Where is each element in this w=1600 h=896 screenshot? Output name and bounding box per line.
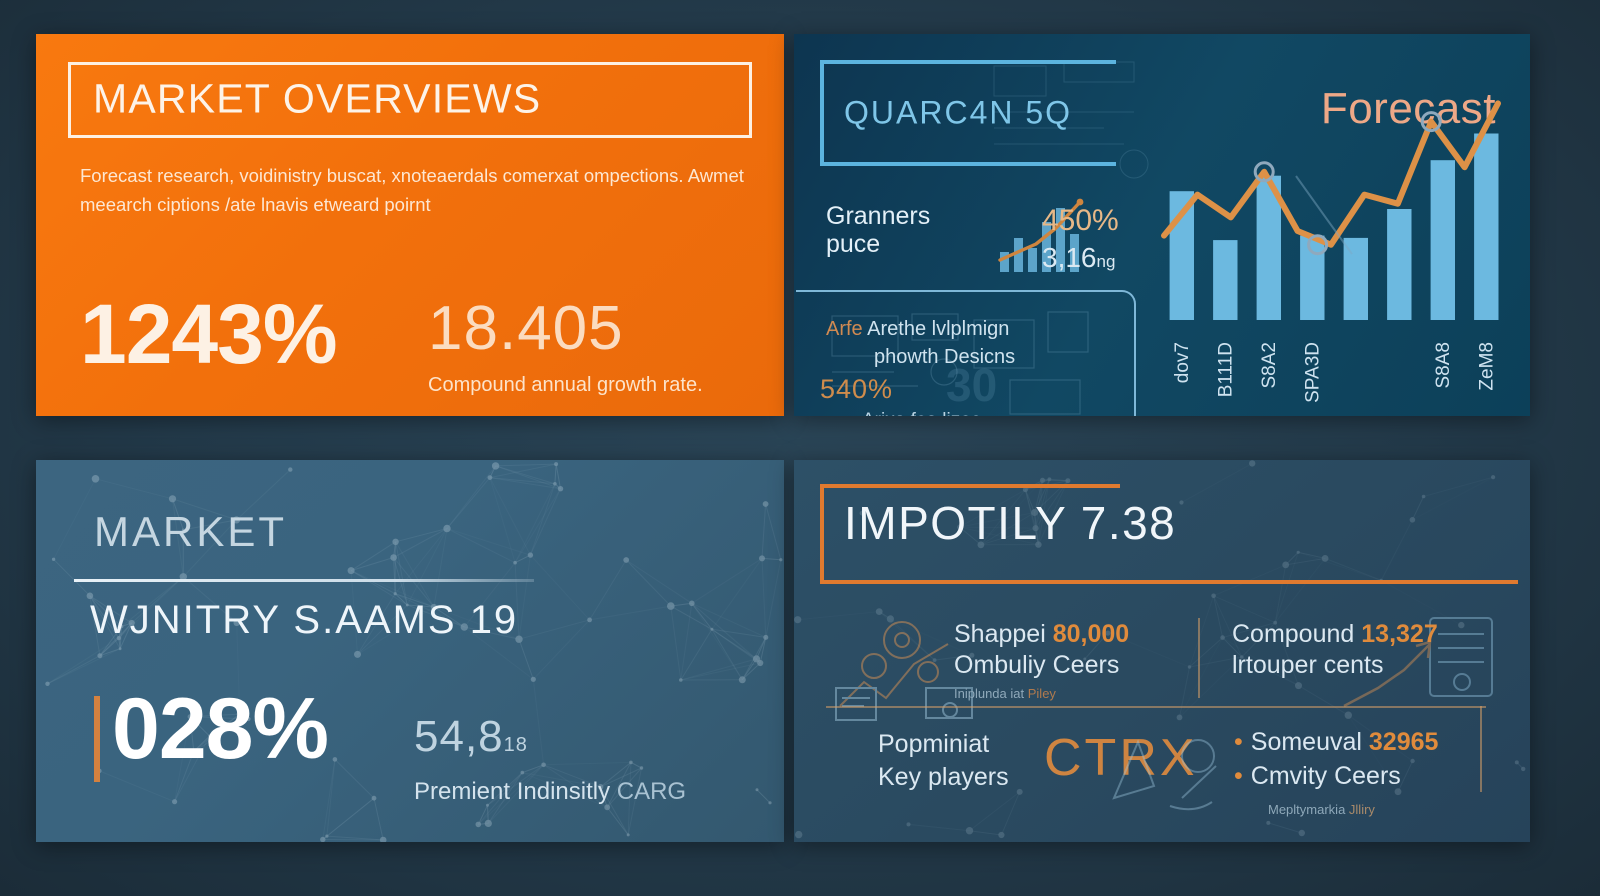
network-link: [760, 637, 766, 663]
impact-cell-2-line1: Compound 13,327: [1232, 620, 1438, 649]
market-subtitle: WJNITRY S.AAMS 19: [90, 598, 518, 643]
impact-bullet-1-value: 32965: [1369, 728, 1439, 756]
network-node: [325, 835, 328, 838]
network-node: [998, 832, 1004, 838]
market-caption: Premient Indinsitly CARG: [414, 778, 686, 806]
sub-card-line1-rest: Arethe lvlplmign: [867, 318, 1009, 340]
network-node: [97, 653, 102, 658]
network-node: [795, 831, 802, 838]
network-link: [351, 542, 396, 571]
network-link: [335, 759, 374, 798]
network-link: [762, 504, 766, 558]
network-link: [607, 807, 628, 835]
network-link: [48, 649, 121, 684]
impact-key-players-line2: Key players: [878, 763, 1009, 791]
network-link: [396, 529, 447, 542]
impact-cell-2: Compound 13,327 lrtouper cents: [1232, 620, 1438, 680]
impact-frame-left: [820, 484, 824, 584]
network-link: [533, 679, 543, 765]
forecast-panel-title: QUARC4N 5Q: [844, 95, 1072, 132]
network-node: [1299, 830, 1305, 836]
market-caption-dim: CARG: [617, 778, 686, 805]
panel-market-overview: MARKET OVERVIEWS Forecast research, void…: [36, 34, 784, 416]
network-node: [1322, 555, 1329, 562]
abstract-logo-icon: [1094, 722, 1244, 822]
market-accent-bar: [94, 696, 100, 782]
forecast-kpi-label-line1: Granners: [826, 202, 930, 230]
network-link: [766, 504, 781, 560]
bullet-dot-icon: •: [1234, 728, 1243, 756]
impact-cell-1-foot-text: Iniplunda iat: [954, 686, 1024, 701]
sub-card-line1: Arfe Arethe lvlplmign: [826, 318, 1009, 341]
network-link: [1298, 552, 1381, 580]
network-node: [394, 592, 397, 595]
network-link: [519, 620, 590, 639]
network-node: [485, 820, 492, 827]
impact-cell-1-text: Shappei: [954, 620, 1046, 648]
impact-cell-2-text: Compound: [1232, 620, 1354, 648]
network-link: [351, 571, 395, 594]
forecast-chart-svg: dov7B111DS8A2SPA3DS8A8ZeM8: [1146, 58, 1520, 414]
impact-cell-1-foot-highlight: Piley: [1028, 686, 1056, 701]
network-node: [541, 763, 546, 768]
network-link: [515, 489, 560, 563]
overview-body-text: Forecast research, voidinistry buscat, x…: [80, 162, 770, 219]
forecast-kpi-value-secondary-unit: ng: [1097, 252, 1116, 271]
overview-title-frame: MARKET OVERVIEWS: [68, 62, 752, 138]
panel-impact-stats: IMPOTILY 7.38: [794, 460, 1530, 842]
network-link: [970, 831, 1002, 835]
network-link: [742, 663, 760, 680]
network-link: [395, 529, 447, 594]
network-node: [763, 501, 769, 507]
network-link: [447, 529, 530, 556]
network-link: [1412, 477, 1493, 520]
impact-bullets-foot-text: Mepltymarkia: [1268, 802, 1345, 817]
network-node: [169, 495, 176, 502]
network-link: [1381, 520, 1412, 581]
network-link: [544, 762, 631, 764]
chart-tick-label: dov7: [1172, 342, 1193, 383]
impact-cell-1-footnote: Iniplunda iat Piley: [954, 686, 1129, 701]
forecast-kpi-value-secondary-number: 3,16: [1042, 242, 1097, 273]
impact-cell-1-value: 80,000: [1053, 620, 1129, 648]
forecast-bar-chart: dov7B111DS8A2SPA3DS8A8ZeM8: [1146, 58, 1520, 414]
sub-card-line1-highlight: Arfe: [826, 318, 863, 340]
impact-frame-top: [820, 484, 1120, 488]
network-node: [667, 602, 675, 610]
network-node: [1491, 475, 1495, 479]
network-link: [590, 606, 671, 620]
network-link: [712, 558, 762, 629]
network-link: [96, 479, 173, 499]
market-secondary-sub: 18: [504, 734, 528, 756]
network-node: [1422, 495, 1426, 499]
forecast-kpi-label: Granners puce: [826, 202, 930, 258]
impact-cell-1: Shappei 80,000 Ombuliy Ceers Iniplunda i…: [954, 620, 1129, 701]
network-node: [172, 799, 177, 804]
impact-horizontal-rule: [826, 706, 1486, 708]
overview-secondary-caption: Compound annual growth rate.: [428, 374, 703, 397]
chart-tick-label: B111D: [1215, 342, 1236, 397]
network-node: [1048, 477, 1052, 481]
network-link: [1268, 823, 1302, 833]
network-node: [392, 539, 398, 545]
overview-secondary-value: 18.405: [428, 298, 624, 360]
forecast-kpi-label-line2: puce: [826, 230, 880, 258]
network-link: [1424, 477, 1494, 496]
network-node: [1295, 682, 1302, 689]
network-node: [794, 616, 801, 623]
network-node: [779, 558, 782, 561]
impact-frame-bottom: [820, 580, 1518, 584]
impact-bullets-foot-highlight: Jlliry: [1349, 802, 1375, 817]
network-node: [443, 525, 450, 532]
impact-cell-2-value: 13,327: [1361, 620, 1437, 648]
sub-card-line3: Arixa fea lizoe: [862, 410, 981, 416]
network-link: [671, 606, 681, 680]
network-node: [623, 557, 629, 563]
network-node: [528, 552, 533, 557]
overview-title: MARKET OVERVIEWS: [93, 76, 541, 123]
network-node: [907, 822, 911, 826]
impact-bullet-2-text: Cmvity Ceers: [1251, 762, 1401, 790]
network-node: [640, 766, 643, 769]
chart-tick-label: SPA3D: [1302, 342, 1323, 403]
network-node: [753, 655, 760, 662]
impact-title: IMPOTILY 7.38: [844, 496, 1176, 550]
chart-bar: [1213, 240, 1237, 320]
network-link: [374, 798, 383, 840]
network-link: [970, 792, 1020, 831]
impact-cell-2-line2: lrtouper cents: [1232, 651, 1438, 680]
network-link: [555, 464, 556, 484]
network-node: [558, 486, 563, 491]
network-node: [288, 467, 292, 471]
network-node: [966, 827, 973, 834]
forecast-sub-card: 30 Arfe Arethe lvlplmign phowth Desicns …: [796, 290, 1136, 416]
network-node: [513, 561, 517, 565]
chart-bar: [1344, 238, 1368, 320]
network-node: [380, 837, 387, 842]
network-link: [54, 479, 96, 560]
network-node: [689, 601, 695, 607]
network-link: [909, 824, 970, 830]
network-node: [1297, 551, 1300, 554]
network-node: [1065, 478, 1070, 483]
impact-key-players-line1: Popminiat: [878, 730, 989, 758]
network-link: [590, 560, 627, 620]
network-link: [766, 560, 781, 638]
market-divider-rule: [74, 579, 534, 582]
forecast-kpi-block: Granners puce 450% 3,16ng: [826, 202, 1156, 280]
chart-bar: [1387, 209, 1411, 320]
chart-bar: [1300, 236, 1324, 320]
impact-cell-1-line2: Ombuliy Ceers: [954, 651, 1129, 680]
network-node: [348, 567, 355, 574]
network-node: [1249, 460, 1255, 466]
network-link: [519, 555, 530, 639]
network-node: [1266, 821, 1270, 825]
forecast-kpi-value-secondary: 3,16ng: [1042, 242, 1115, 274]
network-link: [626, 560, 692, 603]
network-node: [587, 618, 592, 623]
network-node: [679, 678, 683, 682]
chart-tick-label: S8A2: [1259, 342, 1280, 388]
network-link: [447, 529, 515, 563]
network-node: [492, 462, 499, 469]
network-node: [531, 677, 536, 682]
infographic-canvas: MARKET OVERVIEWS Forecast research, void…: [0, 0, 1600, 896]
network-link: [327, 759, 335, 836]
network-node: [554, 462, 558, 466]
network-node: [1177, 715, 1183, 721]
impact-bullet-2: •Cmvity Ceers: [1234, 760, 1438, 794]
network-link: [447, 478, 490, 529]
impact-cell-divider: [1198, 618, 1200, 698]
network-node: [710, 628, 713, 631]
network-link: [530, 489, 560, 555]
network-node: [1211, 594, 1216, 599]
network-node: [629, 761, 633, 765]
chart-bars: [1170, 134, 1499, 321]
network-link: [533, 620, 589, 679]
network-link: [490, 478, 531, 555]
network-link: [490, 478, 515, 563]
network-node: [768, 801, 771, 804]
impact-corner-rule: [1480, 706, 1482, 792]
network-link: [54, 559, 90, 596]
network-link: [1275, 558, 1325, 622]
chart-bar: [1474, 134, 1498, 321]
network-node: [1040, 478, 1045, 483]
forecast-kpi-value-primary: 450%: [1042, 204, 1119, 238]
network-node: [372, 796, 377, 801]
network-node: [52, 558, 55, 561]
network-link: [762, 558, 766, 637]
forecast-title-frame: QUARC4N 5Q: [820, 60, 1116, 166]
network-node: [1017, 789, 1023, 795]
impact-bullet-list: •Someuval 32965 •Cmvity Ceers Mepltymark…: [1234, 726, 1438, 817]
panel-market-industry: MARKET WJNITRY S.AAMS 19 028% 54,818 Pre…: [36, 460, 784, 842]
network-link: [1182, 463, 1253, 502]
network-node: [1282, 562, 1289, 569]
network-node: [354, 651, 361, 658]
network-link: [1214, 596, 1276, 623]
network-link: [692, 558, 762, 603]
impact-bullets-footnote: Mepltymarkia Jlliry: [1268, 802, 1438, 817]
network-node: [1220, 635, 1225, 640]
network-node: [333, 757, 338, 762]
sub-card-big-value: 540%: [820, 374, 893, 405]
network-node: [119, 647, 122, 650]
network-node: [763, 635, 768, 640]
network-node: [488, 475, 493, 480]
network-link: [757, 790, 770, 803]
market-secondary-number: 54,8: [414, 712, 504, 761]
network-node: [476, 822, 482, 828]
sub-card-line2: phowth Desicns: [874, 346, 1015, 369]
chart-tick-label: ZeM8: [1476, 342, 1497, 391]
network-node: [1179, 500, 1183, 504]
network-node: [756, 788, 759, 791]
network-link: [515, 484, 555, 563]
network-node: [1188, 665, 1191, 668]
market-primary-value: 028%: [112, 686, 328, 772]
overview-primary-value: 1243%: [80, 292, 337, 376]
network-node: [521, 771, 525, 775]
panel-quarterly-forecast: QUARC4N 5Q Forecast Granners puce: [794, 34, 1530, 416]
network-link: [351, 558, 394, 571]
network-node: [627, 833, 630, 836]
chart-bar: [1431, 160, 1455, 320]
network-node: [739, 676, 746, 683]
network-link: [1214, 596, 1223, 638]
impact-key-players-label: Popminiat Key players: [878, 728, 1009, 794]
chart-markers: [1255, 113, 1440, 254]
network-node: [390, 554, 397, 561]
impact-bullet-1: •Someuval 32965: [1234, 726, 1438, 760]
market-secondary-value: 54,818: [414, 712, 528, 762]
network-link: [530, 555, 589, 620]
overview-stat-row: 1243% 18.405 Compound annual growth rate…: [80, 292, 770, 400]
network-node: [1515, 760, 1519, 764]
network-node: [45, 682, 49, 686]
chart-tick-label: S8A8: [1433, 342, 1454, 388]
network-node: [1521, 767, 1525, 771]
bullet-dot-icon-2: •: [1234, 762, 1243, 790]
network-node: [92, 475, 100, 483]
network-link: [323, 840, 383, 841]
impact-bullet-1-text: Someuval: [1251, 728, 1362, 756]
network-link: [626, 560, 671, 606]
network-node: [320, 837, 325, 842]
network-node: [553, 482, 557, 486]
chart-tick-labels: dov7B111DS8A2SPA3DS8A8ZeM8: [1172, 342, 1498, 403]
network-link: [530, 484, 555, 555]
market-caption-text: Premient Indinsitly: [414, 778, 610, 805]
network-node: [759, 555, 765, 561]
impact-cell-1-line1: Shappei 80,000: [954, 620, 1129, 649]
network-node: [1410, 517, 1416, 523]
market-title: MARKET: [94, 508, 287, 556]
